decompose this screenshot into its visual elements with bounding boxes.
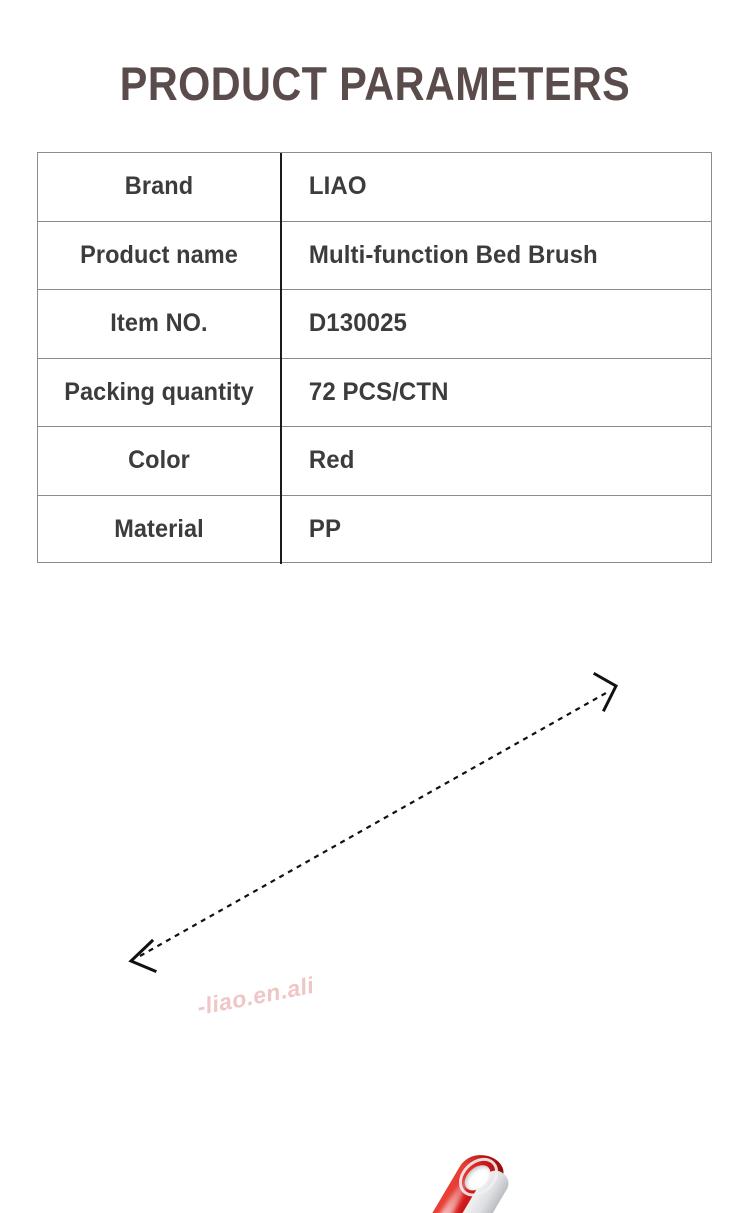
arrowhead-lower-left-icon [131, 941, 155, 971]
table-row: Brand LIAO [38, 153, 711, 222]
table-cell-value: PP [282, 496, 694, 565]
table-cell-key: Brand [45, 153, 272, 221]
table-cell-key: Product name [45, 222, 272, 290]
brush-handle [401, 1146, 522, 1213]
table-cell-value: Multi-function Bed Brush [282, 222, 694, 290]
dimension-arrow-layer [0, 600, 750, 1213]
page-title: PRODUCT PARAMETERS [45, 57, 705, 111]
table-row: Item NO. D130025 [38, 290, 711, 359]
table-row: Packing quantity 72 PCS/CTN [38, 359, 711, 428]
table-cell-value: D130025 [282, 290, 694, 358]
table-cell-key: Item NO. [45, 290, 272, 358]
table-row: Color Red [38, 427, 711, 496]
product-parameters-table: Brand LIAO Product name Multi-function B… [37, 152, 712, 563]
arrowhead-upper-right-icon [595, 674, 616, 710]
table-cell-value: 72 PCS/CTN [282, 359, 694, 427]
table-cell-key: Material [45, 496, 272, 565]
dimension-dashed-line [140, 693, 606, 956]
table-row: Material PP [38, 496, 711, 565]
table-cell-value: Red [282, 427, 694, 495]
product-photo: 38CM [0, 600, 750, 1213]
table-row: Product name Multi-function Bed Brush [38, 222, 711, 291]
table-cell-value: LIAO [282, 153, 694, 221]
brush-rotated-group [0, 1092, 668, 1213]
table-cell-key: Color [45, 427, 272, 495]
table-cell-key: Packing quantity [45, 359, 272, 427]
